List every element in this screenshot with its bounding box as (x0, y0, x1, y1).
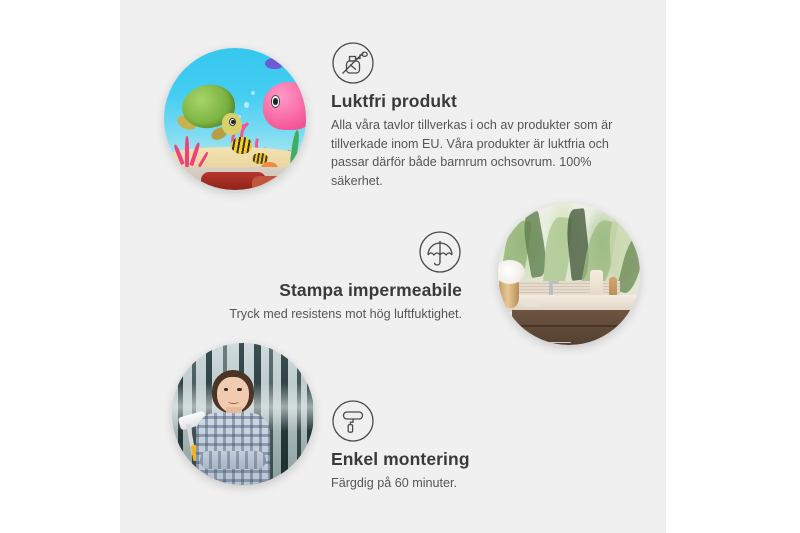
person-smile (228, 398, 239, 403)
bottle-shape (590, 270, 603, 298)
feature-odourless: Luktfri produkt Alla våra tavlor tillver… (331, 41, 631, 190)
yellow-fish-icon (231, 137, 252, 154)
backsplash (509, 281, 620, 295)
person-eye (237, 388, 242, 391)
drawer-handle (538, 342, 571, 343)
bubble-icon (251, 91, 255, 95)
feature-easy-mount: Enkel montering Färgdig på 60 minuter. (331, 399, 591, 493)
blue-fish-icon (265, 58, 283, 69)
vanity-cabinet (512, 310, 640, 346)
feature-waterproof: Stampa impermeabile Tryck med resistens … (180, 230, 462, 324)
page-root: Luktfri produkt Alla våra tavlor tillver… (0, 0, 800, 533)
person-plaid-shirt (196, 413, 270, 485)
paint-roller-icon (331, 399, 375, 443)
octopus-head (263, 82, 306, 130)
door-handle (621, 330, 625, 342)
feature-body: Tryck med resistens mot hög luftfuktighe… (180, 305, 462, 324)
cabinet-seam (512, 325, 640, 327)
coral-icon (175, 130, 218, 167)
installer-forest-photo (172, 343, 314, 485)
octopus-eye (271, 95, 281, 108)
bubble-icon (244, 102, 250, 108)
person-crossed-arms (200, 451, 265, 469)
feature-title: Enkel montering (331, 449, 591, 470)
umbrella-icon (418, 230, 462, 274)
no-fragrance-icon (331, 41, 375, 85)
sofa-shape (252, 176, 295, 190)
underwater-mural-photo (164, 48, 306, 190)
bathroom-wallpaper-photo (498, 203, 640, 345)
feature-body: Alla våra tavlor tillverkas i och av pro… (331, 116, 631, 190)
feature-title: Luktfri produkt (331, 91, 631, 112)
person-eye (224, 388, 229, 391)
feature-body: Färgdig på 60 minuter. (331, 474, 591, 493)
feature-title: Stampa impermeabile (180, 280, 462, 301)
soap-dish (521, 300, 539, 307)
